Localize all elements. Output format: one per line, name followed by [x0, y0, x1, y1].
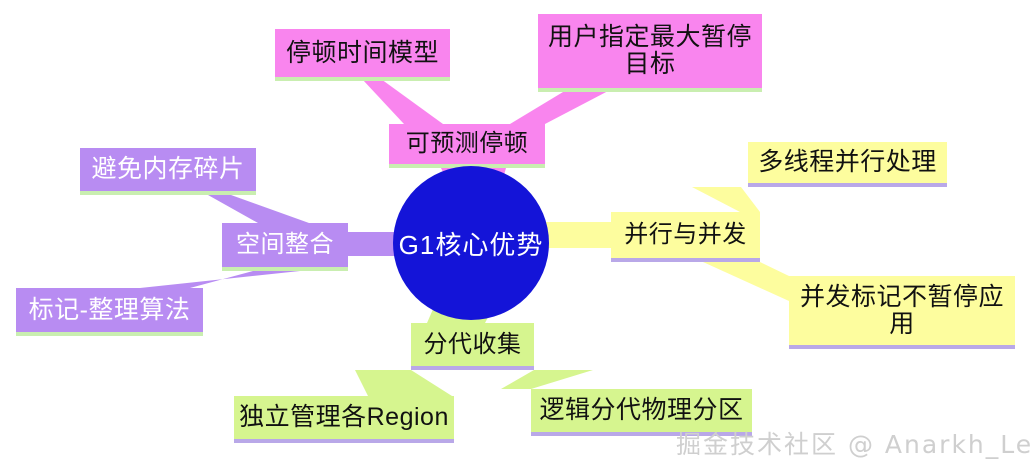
- leaf-node-0-predictable-pause[interactable]: 停顿时间模型: [275, 29, 450, 81]
- branch-node-parallel-concurrent[interactable]: 并行与并发: [611, 212, 760, 262]
- node-label: 用户指定最大暂停 目标: [548, 24, 752, 78]
- branch-node-generational-collection[interactable]: 分代收集: [411, 323, 534, 370]
- connector-parallel-to-concurrent-mark: [703, 262, 789, 301]
- central-node-label: G1核心优势: [399, 225, 544, 262]
- node-label: 空间整合: [236, 232, 334, 258]
- connector-generational-to-region: [355, 370, 452, 396]
- node-label: 分代收集: [424, 332, 522, 358]
- connector-center-to-parallel: [540, 222, 611, 248]
- node-label: 多线程并行处理: [758, 149, 937, 176]
- connector-parallel-to-multithread: [692, 187, 760, 212]
- leaf-node-0-generational-collection[interactable]: 独立管理各Region: [234, 396, 454, 443]
- node-label: 标记-整理算法: [29, 297, 191, 324]
- connector-predictable-pause-to-max-pause-goal: [510, 90, 610, 124]
- node-label: 逻辑分代物理分区: [539, 397, 743, 424]
- node-label: 并行与并发: [624, 222, 747, 248]
- mindmap-canvas: 可预测停顿停顿时间模型用户指定最大暂停 目标空间整合避免内存碎片标记-整理算法并…: [0, 0, 1033, 463]
- leaf-node-1-parallel-concurrent[interactable]: 并发标记不暂停应 用: [789, 276, 1015, 349]
- node-label: 可预测停顿: [406, 131, 529, 157]
- connector-predictable-pause-to-pause-model: [362, 79, 443, 124]
- node-label: 并发标记不暂停应 用: [800, 284, 1004, 338]
- node-label: 避免内存碎片: [91, 156, 244, 183]
- watermark: 掘金技术社区 @ Anarkh_Lee: [676, 425, 1033, 461]
- connector-generational-to-logical: [501, 370, 593, 389]
- connector-space-integration-to-mark-compact: [140, 271, 300, 288]
- leaf-node-0-space-integration[interactable]: 避免内存碎片: [80, 148, 256, 195]
- leaf-node-1-predictable-pause[interactable]: 用户指定最大暂停 目标: [538, 14, 762, 92]
- connector-space-integration-to-fragment: [208, 195, 309, 223]
- branch-node-predictable-pause[interactable]: 可预测停顿: [389, 124, 545, 168]
- node-label: 停顿时间模型: [286, 40, 439, 67]
- leaf-node-0-parallel-concurrent[interactable]: 多线程并行处理: [748, 142, 947, 187]
- node-label: 独立管理各Region: [239, 404, 449, 431]
- leaf-node-1-space-integration[interactable]: 标记-整理算法: [16, 288, 203, 336]
- branch-node-space-integration[interactable]: 空间整合: [222, 223, 348, 271]
- central-node[interactable]: G1核心优势: [393, 166, 549, 320]
